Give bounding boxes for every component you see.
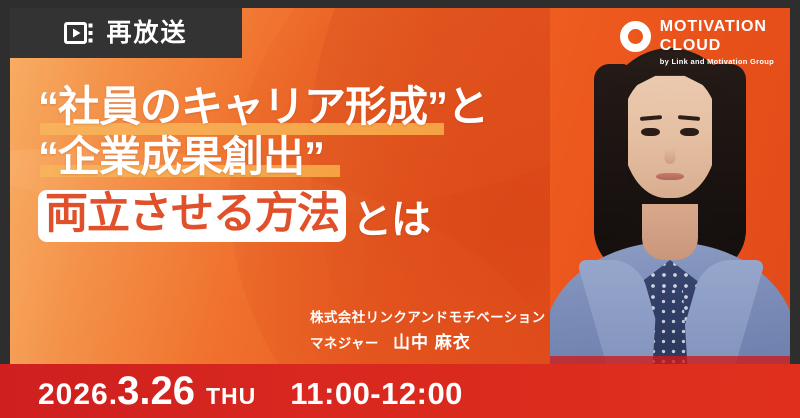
photo-mouth: [656, 173, 684, 180]
logo-line-1: MOTIVATION: [660, 19, 774, 35]
photo-eye-right: [680, 128, 699, 136]
webinar-banner: 再放送 MOTIVATION CLOUD by Link and Motivat…: [0, 0, 800, 418]
headline-block: “社員のキャリア形成”と “企業成果創出” 両立させる方法 とは: [38, 86, 558, 245]
ring-icon: [620, 21, 651, 52]
schedule-separator: .: [109, 380, 117, 410]
speaker-company: 株式会社リンクアンドモチベーション: [310, 308, 546, 328]
rebroadcast-badge: 再放送: [10, 8, 242, 58]
headline-row-2: “企業成果創出”: [38, 136, 558, 178]
headline-row-3: 両立させる方法 とは: [38, 187, 558, 245]
schedule-day-of-week: THU: [206, 385, 256, 408]
headline-row-1: “社員のキャリア形成”と: [38, 86, 558, 136]
speaker-role-row: マネジャー 山中 麻衣: [310, 330, 546, 356]
schedule-year: 2026: [38, 380, 109, 410]
logo-text: MOTIVATION CLOUD by Link and Motivation …: [660, 18, 774, 66]
rebroadcast-badge-label: 再放送: [106, 21, 187, 46]
schedule-time: 11:00-12:00: [290, 378, 463, 409]
headline-boxed-text: 両立させる方法: [38, 190, 346, 242]
photo-eye-left: [641, 128, 660, 136]
speaker-role: マネジャー: [310, 336, 379, 351]
schedule-text: 2026 . 3.26 THU 11:00-12:00: [0, 371, 463, 411]
speaker-name: 山中 麻衣: [393, 333, 471, 352]
speaker-info: 株式会社リンクアンドモチベーション マネジャー 山中 麻衣: [310, 308, 546, 356]
schedule-bar: 2026 . 3.26 THU 11:00-12:00: [0, 364, 800, 418]
photo-nose: [665, 148, 676, 164]
headline-line-1: “社員のキャリア形成”と: [38, 86, 488, 128]
motivation-cloud-logo: MOTIVATION CLOUD by Link and Motivation …: [620, 18, 774, 66]
headline-line-2: “企業成果創出”: [38, 136, 324, 178]
banner-canvas: 再放送 MOTIVATION CLOUD by Link and Motivat…: [10, 8, 790, 410]
video-play-icon: [64, 22, 94, 44]
headline-tail-text: とは: [352, 187, 430, 245]
logo-line-2: CLOUD: [660, 38, 774, 54]
logo-tagline: by Link and Motivation Group: [660, 58, 774, 66]
schedule-month-day: 3.26: [117, 371, 195, 411]
speaker-photo: [550, 8, 790, 410]
photo-neck: [642, 204, 698, 260]
